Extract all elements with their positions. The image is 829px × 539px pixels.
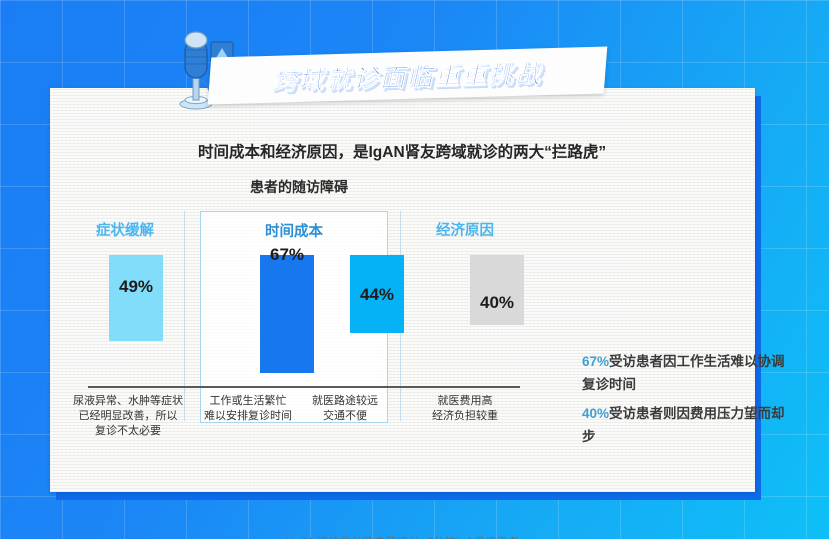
- x-label-symptom: 尿液异常、水肿等症状 已经明显改善，所以 复诊不太必要: [70, 394, 186, 439]
- x-label-line: 交通不便: [298, 409, 392, 424]
- annotation-item: 40%受访患者则因费用压力望而却步: [582, 402, 792, 448]
- bar-value-cost: 40%: [470, 293, 524, 313]
- bar-value-busy: 67%: [260, 245, 314, 265]
- bar-value-symptom: 49%: [109, 277, 163, 297]
- x-label-line: 经济负担较重: [412, 409, 518, 424]
- chart-footnote: N=74 随访依从性自我评分<9分的IgA肾病患者: [50, 534, 755, 539]
- x-label-cost: 就医费用高 经济负担较重: [412, 394, 518, 424]
- infographic-root: 时间成本和经济原因，是IgAN肾友跨域就诊的两大“拦路虎” 患者的随访障碍 症状…: [0, 0, 829, 539]
- annotation-list: 67%受访患者因工作生活难以协调复诊时间 40%受访患者则因费用压力望而却步: [582, 350, 792, 454]
- x-label-line: 难以安排复诊时间: [196, 409, 300, 424]
- bar-chart-plot: 49% 67% 44% 40%: [88, 255, 528, 387]
- bar-busy: [260, 255, 314, 373]
- group-header-symptom-relief: 症状缓解: [96, 219, 154, 240]
- bar-column-busy: 67%: [260, 255, 314, 387]
- x-label-line: 已经明显改善，所以: [70, 409, 186, 424]
- bar-column-distance: 44%: [350, 255, 404, 387]
- bar-column-cost: 40%: [470, 255, 524, 387]
- x-label-line: 工作或生活繁忙: [196, 394, 300, 409]
- annotation-item: 67%受访患者因工作生活难以协调复诊时间: [582, 350, 792, 396]
- annotation-text: 受访患者因工作生活难以协调复诊时间: [582, 354, 785, 392]
- axis-baseline: [88, 386, 520, 388]
- headline: 时间成本和经济原因，是IgAN肾友跨域就诊的两大“拦路虎”: [198, 140, 758, 162]
- bar-cost: [470, 255, 524, 325]
- group-header-economic: 经济原因: [436, 219, 494, 240]
- bar-value-distance: 44%: [350, 285, 404, 305]
- group-header-time-cost: 时间成本: [201, 220, 387, 241]
- bar-symptom: [109, 255, 163, 341]
- x-label-distance: 就医路途较远 交通不便: [298, 394, 392, 424]
- annotation-percent: 67%: [582, 354, 609, 369]
- x-label-busy: 工作或生活繁忙 难以安排复诊时间: [196, 394, 300, 424]
- content-card: 时间成本和经济原因，是IgAN肾友跨域就诊的两大“拦路虎” 患者的随访障碍 症状…: [50, 88, 755, 492]
- x-label-line: 尿液异常、水肿等症状: [70, 394, 186, 409]
- x-label-line: 复诊不太必要: [70, 424, 186, 439]
- annotation-text: 受访患者则因费用压力望而却步: [582, 406, 785, 444]
- annotation-percent: 40%: [582, 406, 609, 421]
- chart-title: 患者的随访障碍: [250, 177, 348, 197]
- banner-title: 跨域就诊面临重重挑战: [272, 54, 544, 97]
- bar-column-symptom: 49%: [109, 255, 163, 387]
- x-label-line: 就医路途较远: [298, 394, 392, 409]
- x-label-line: 就医费用高: [412, 394, 518, 409]
